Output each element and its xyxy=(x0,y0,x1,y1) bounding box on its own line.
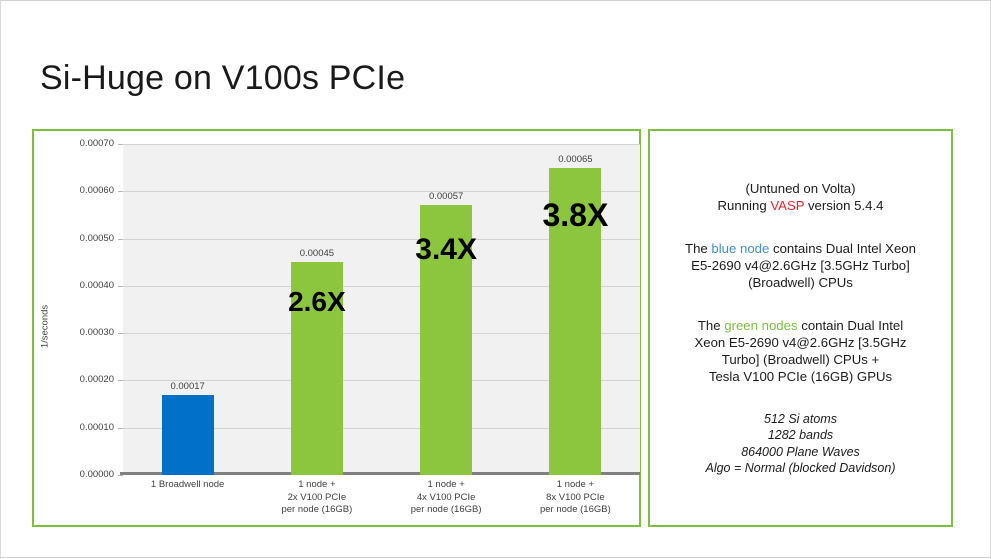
info-untuned-line: (Untuned on Volta) xyxy=(656,180,946,197)
bar-value-label: 0.00057 xyxy=(382,191,511,202)
info-green-line4: Tesla V100 PCIe (16GB) GPUs xyxy=(656,368,946,385)
x-axis-label: 1 node +2x V100 PCIeper node (16GB) xyxy=(252,479,381,517)
x-axis-label-line: per node (16GB) xyxy=(382,504,511,517)
bar-column: 0.000653.8X xyxy=(511,144,640,475)
slide-canvas: Si-Huge on V100s PCIe 0.000700.000600.00… xyxy=(0,0,991,558)
y-tick-label: 0.00070 xyxy=(54,138,114,149)
y-tick-label: 0.00050 xyxy=(54,233,114,244)
x-axis-label-line: 1 Broadwell node xyxy=(123,479,252,492)
info-specs-block: 512 Si atoms 1282 bands 864000 Plane Wav… xyxy=(656,411,946,477)
bar[interactable] xyxy=(162,395,214,475)
spec-atoms: 512 Si atoms xyxy=(656,411,946,428)
page-title: Si-Huge on V100s PCIe xyxy=(40,59,405,98)
bar-value-label: 0.00045 xyxy=(252,248,381,259)
info-blue-mark: blue node xyxy=(711,241,769,256)
info-vasp-pre: Running xyxy=(718,198,771,213)
x-axis-label-line: 8x V100 PCIe xyxy=(511,492,640,505)
y-tick-label: 0.00030 xyxy=(54,327,114,338)
y-tick-label: 0.00060 xyxy=(54,185,114,196)
bar-column: 0.000452.6X xyxy=(252,144,381,475)
y-tick-label: 0.00020 xyxy=(54,374,114,385)
bar-value-label: 0.00017 xyxy=(123,381,252,392)
x-axis-label-line: per node (16GB) xyxy=(511,504,640,517)
spec-plane-waves: 864000 Plane Waves xyxy=(656,444,946,461)
info-blue-line2: E5-2690 v4@2.6GHz [3.5GHz Turbo] xyxy=(656,257,946,274)
info-green-line1: The green nodes contain Dual Intel xyxy=(656,317,946,334)
info-green-nodes-block: The green nodes contain Dual Intel Xeon … xyxy=(656,317,946,385)
x-axis-label-line: 1 node + xyxy=(252,479,381,492)
x-axis-label: 1 node +8x V100 PCIeper node (16GB) xyxy=(511,479,640,517)
info-green-pre: The xyxy=(698,318,724,333)
info-blue-post: contains Dual Intel Xeon xyxy=(769,241,916,256)
info-blue-line3: (Broadwell) CPUs xyxy=(656,274,946,291)
y-axis-title: 1/seconds xyxy=(40,292,51,362)
x-axis-label-line: 1 node + xyxy=(511,479,640,492)
info-vasp-post: version 5.4.4 xyxy=(804,198,883,213)
y-tick-label: 0.00040 xyxy=(54,280,114,291)
spec-algo: Algo = Normal (blocked Davidson) xyxy=(656,460,946,477)
x-axis-label-line: 1 node + xyxy=(382,479,511,492)
bar-column: 0.00017 xyxy=(123,144,252,475)
info-vasp-line: Running VASP version 5.4.4 xyxy=(656,197,946,214)
info-blue-pre: The xyxy=(685,241,711,256)
speedup-annotation: 3.4X xyxy=(382,233,511,267)
x-axis-label: 1 node +4x V100 PCIeper node (16GB) xyxy=(382,479,511,517)
bar-column: 0.000573.4X xyxy=(382,144,511,475)
x-axis-label-line: 4x V100 PCIe xyxy=(382,492,511,505)
y-tick-label: 0.00000 xyxy=(54,469,114,480)
info-blue-line1: The blue node contains Dual Intel Xeon xyxy=(656,240,946,257)
info-green-post: contain Dual Intel xyxy=(798,318,904,333)
bar-series: 0.000170.000452.6X0.000573.4X0.000653.8X xyxy=(123,144,640,475)
info-green-line3: Turbo] (Broadwell) CPUs + xyxy=(656,351,946,368)
x-axis-label-line: per node (16GB) xyxy=(252,504,381,517)
info-blue-node-block: The blue node contains Dual Intel Xeon E… xyxy=(656,240,946,291)
slide-left-edge xyxy=(0,1,1,559)
info-green-mark: green nodes xyxy=(724,318,797,333)
info-panel: (Untuned on Volta) Running VASP version … xyxy=(648,129,953,527)
y-tick-label: 0.00010 xyxy=(54,422,114,433)
x-axis-label-line: 2x V100 PCIe xyxy=(252,492,381,505)
bar-value-label: 0.00065 xyxy=(511,154,640,165)
info-untuned-block: (Untuned on Volta) Running VASP version … xyxy=(656,180,946,214)
x-axis-label: 1 Broadwell node xyxy=(123,479,252,492)
chart-panel: 0.000700.000600.000500.000400.000300.000… xyxy=(32,129,641,527)
spec-bands: 1282 bands xyxy=(656,427,946,444)
x-axis-labels: 1 Broadwell node1 node +2x V100 PCIeper … xyxy=(123,479,640,525)
speedup-annotation: 2.6X xyxy=(252,286,381,318)
speedup-annotation: 3.8X xyxy=(511,197,640,234)
info-vasp-mark: VASP xyxy=(770,198,804,213)
info-green-line2: Xeon E5-2690 v4@2.6GHz [3.5GHz xyxy=(656,334,946,351)
y-tick xyxy=(118,475,123,476)
